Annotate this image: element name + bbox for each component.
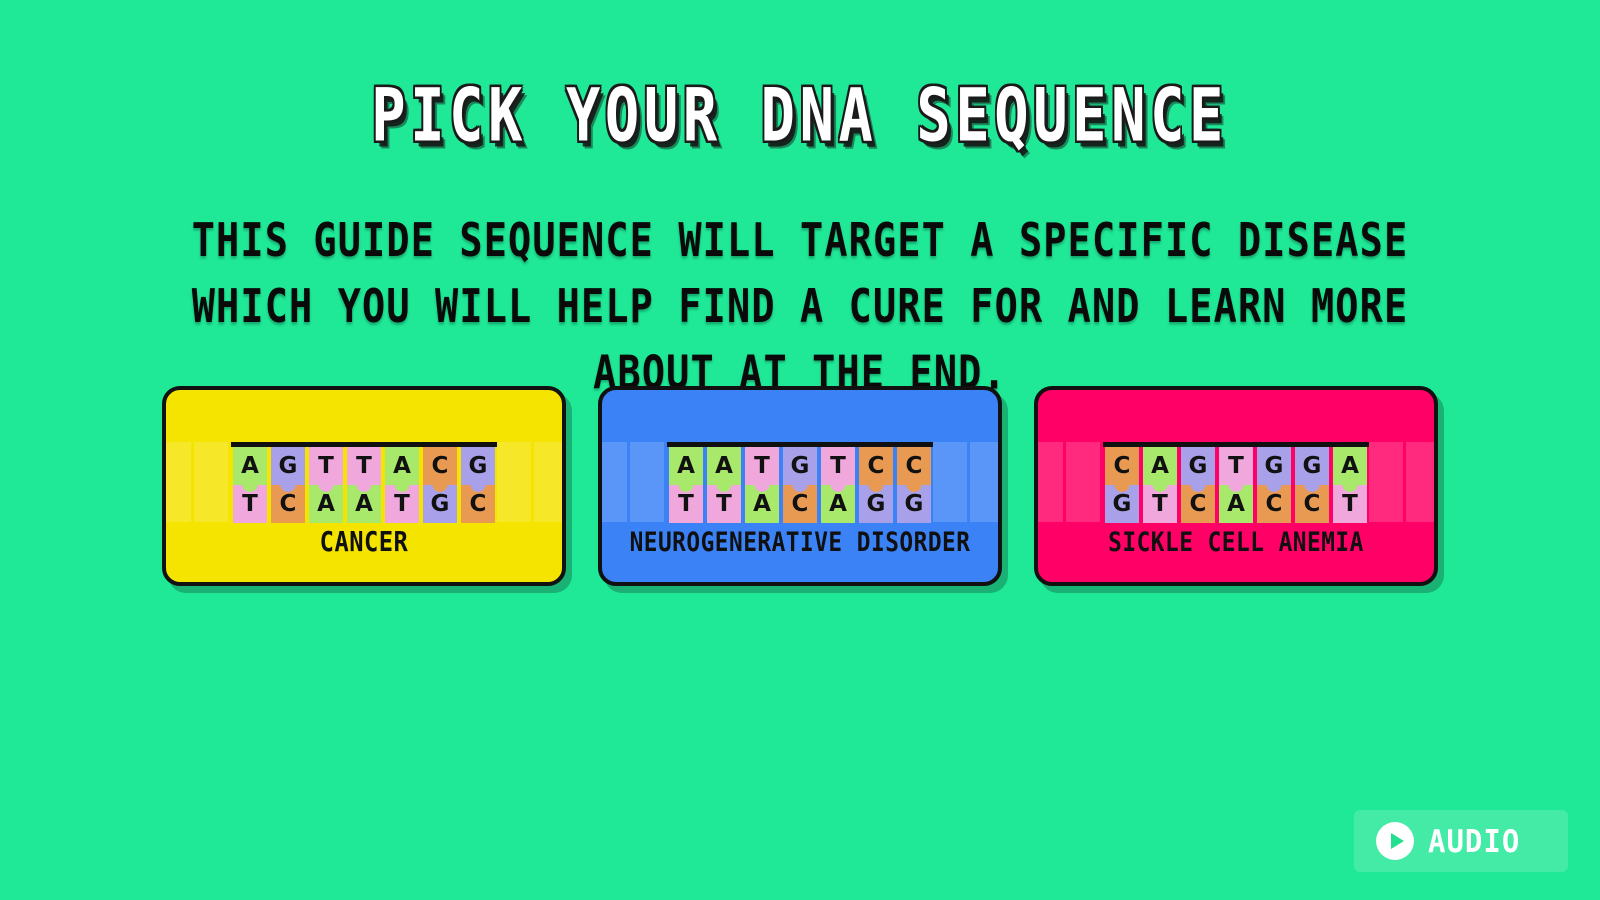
play-circle-icon <box>1376 822 1414 860</box>
sequence-card-label: CANCER <box>176 526 552 558</box>
dna-base-top: G <box>1257 447 1291 485</box>
dna-pair-ghost <box>1369 442 1403 522</box>
dna-base-pair: TA <box>745 447 779 523</box>
audio-button-label: AUDIO <box>1428 823 1520 860</box>
sequence-card-list: ATGCTATAATCGGCCANCERATATTAGCTACGCGNEUROG… <box>0 386 1600 586</box>
dna-base-pair: GC <box>783 447 817 523</box>
dna-pair-group: ATGCTATAATCGGC <box>231 442 497 523</box>
dna-sequence-selection-screen: { "screen": { "title": "PICK YOUR DNA SE… <box>0 0 1600 900</box>
dna-base-pair: AT <box>707 447 741 523</box>
dna-base-top: T <box>821 447 855 485</box>
title-area: PICK YOUR DNA SEQUENCE <box>0 0 1600 145</box>
subtitle-area: THIS GUIDE SEQUENCE WILL TARGET A SPECIF… <box>140 207 1460 382</box>
dna-pair-group: CGATGCTAGCGCAT <box>1103 442 1369 523</box>
dna-base-top: A <box>669 447 703 485</box>
page-title: PICK YOUR DNA SEQUENCE <box>372 72 1229 158</box>
dna-pair-ghost <box>497 442 531 522</box>
dna-base-top: A <box>1143 447 1177 485</box>
dna-base-pair: GC <box>271 447 305 523</box>
dna-base-pair: TA <box>347 447 381 523</box>
dna-base-pair: TA <box>1219 447 1253 523</box>
dna-pair-group: ATATTAGCTACGCG <box>667 442 933 523</box>
dna-pair-ghost <box>1406 442 1434 522</box>
dna-pair-ghost <box>933 442 967 522</box>
dna-base-pair: CG <box>1105 447 1139 523</box>
sequence-card-sickle-cell-anemia[interactable]: CGATGCTAGCGCATSICKLE CELL ANEMIA <box>1034 386 1438 586</box>
dna-base-top: T <box>1219 447 1253 485</box>
dna-base-top: T <box>347 447 381 485</box>
dna-base-top: T <box>745 447 779 485</box>
dna-base-pair: TA <box>309 447 343 523</box>
dna-base-pair: AT <box>669 447 703 523</box>
dna-base-pair: AT <box>1143 447 1177 523</box>
dna-base-pair: AT <box>1333 447 1367 523</box>
dna-base-pair: CG <box>423 447 457 523</box>
dna-pair-ghost <box>534 442 562 522</box>
dna-base-pair: GC <box>1295 447 1329 523</box>
instruction-text: THIS GUIDE SEQUENCE WILL TARGET A SPECIF… <box>180 207 1421 406</box>
dna-strip: ATATTAGCTACGCG <box>602 442 998 528</box>
audio-button[interactable]: AUDIO <box>1354 810 1568 872</box>
dna-base-top: T <box>309 447 343 485</box>
dna-base-top: C <box>859 447 893 485</box>
dna-base-top: G <box>1181 447 1215 485</box>
dna-base-top: A <box>707 447 741 485</box>
dna-base-top: A <box>1333 447 1367 485</box>
sequence-card-neurogenerative-disorder[interactable]: ATATTAGCTACGCGNEUROGENERATIVE DISORDER <box>598 386 1002 586</box>
sequence-card-cancer[interactable]: ATGCTATAATCGGCCANCER <box>162 386 566 586</box>
dna-strip: CGATGCTAGCGCAT <box>1038 442 1434 528</box>
dna-pair-ghost <box>194 442 228 522</box>
dna-base-pair: AT <box>385 447 419 523</box>
dna-base-top: C <box>423 447 457 485</box>
dna-base-top: C <box>897 447 931 485</box>
sequence-card-label: SICKLE CELL ANEMIA <box>1048 527 1424 558</box>
dna-base-top: G <box>461 447 495 485</box>
dna-base-pair: CG <box>859 447 893 523</box>
dna-pair-ghost <box>602 442 627 522</box>
dna-base-pair: GC <box>461 447 495 523</box>
dna-base-top: A <box>385 447 419 485</box>
dna-base-pair: TA <box>821 447 855 523</box>
dna-base-top: G <box>1295 447 1329 485</box>
dna-base-pair: GC <box>1181 447 1215 523</box>
dna-pair-ghost <box>1038 442 1063 522</box>
dna-pair-ghost <box>1066 442 1100 522</box>
dna-pair-ghost <box>630 442 664 522</box>
dna-base-top: A <box>233 447 267 485</box>
dna-base-pair: GC <box>1257 447 1291 523</box>
dna-base-top: G <box>783 447 817 485</box>
dna-pair-ghost <box>970 442 998 522</box>
dna-base-pair: CG <box>897 447 931 523</box>
dna-base-top: G <box>271 447 305 485</box>
dna-strip: ATGCTATAATCGGC <box>166 442 562 528</box>
dna-pair-ghost <box>166 442 191 522</box>
dna-base-top: C <box>1105 447 1139 485</box>
sequence-card-label: NEUROGENERATIVE DISORDER <box>612 527 988 558</box>
dna-base-pair: AT <box>233 447 267 523</box>
